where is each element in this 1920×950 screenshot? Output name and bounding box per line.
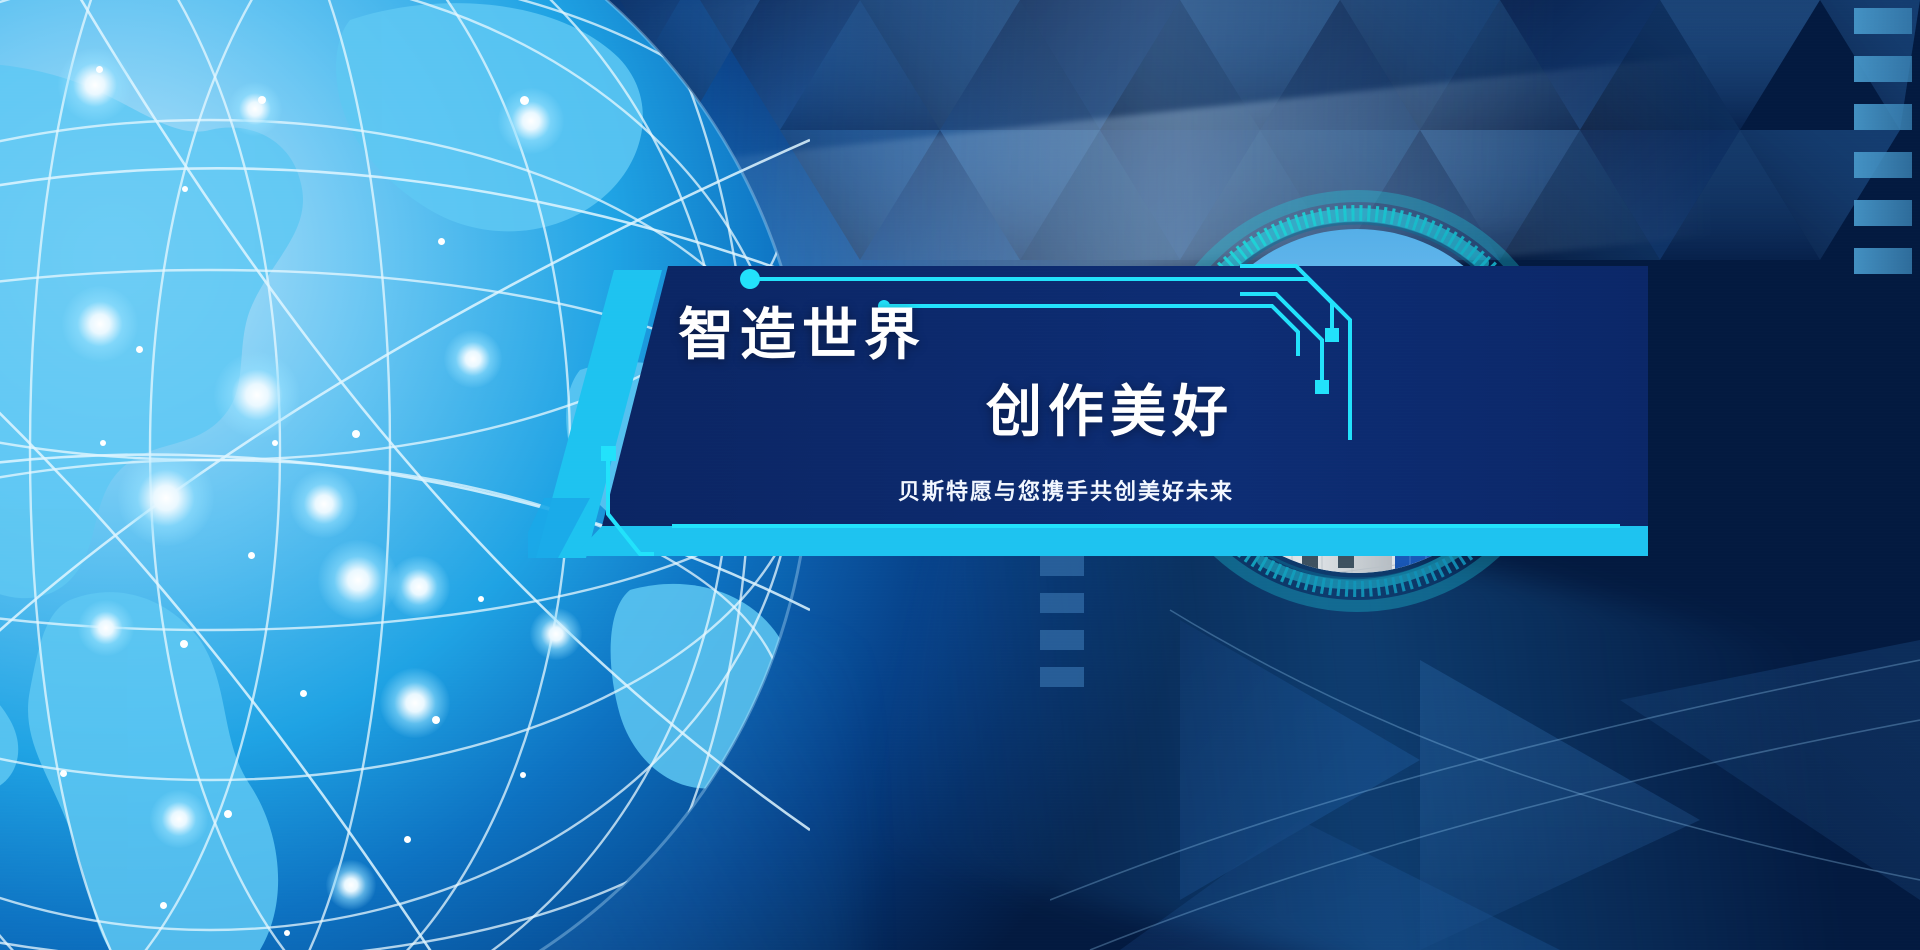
lower-bar [1040,556,1084,576]
edge-bar [1854,248,1912,274]
edge-bar [1854,152,1912,178]
circuit-node-square [1315,380,1329,394]
edge-bar [1854,56,1912,82]
headline-text-block: 智造世界 创作美好 贝斯特愿与您携手共创美好未来 [678,306,1238,506]
circuit-node-square [601,446,616,461]
headline-line-2: 创作美好 [678,383,1238,440]
circuit-node-large [740,269,760,289]
edge-bar [1854,104,1912,130]
edge-bar-stack [1854,8,1912,296]
banner-subtitle: 贝斯特愿与您携手共创美好未来 [678,474,1238,506]
panel-circuit-traces-right [1240,252,1540,442]
banner-stage: 华驰 贝斯特 BEST 精密 ΨΨΨ 热烈欢迎莅临指导检查 [0,0,1920,950]
headline-line-1: 智造世界 [678,306,1238,363]
edge-bar [1854,8,1912,34]
edge-bar [1854,200,1912,226]
lower-streak-lines [1050,600,1920,950]
